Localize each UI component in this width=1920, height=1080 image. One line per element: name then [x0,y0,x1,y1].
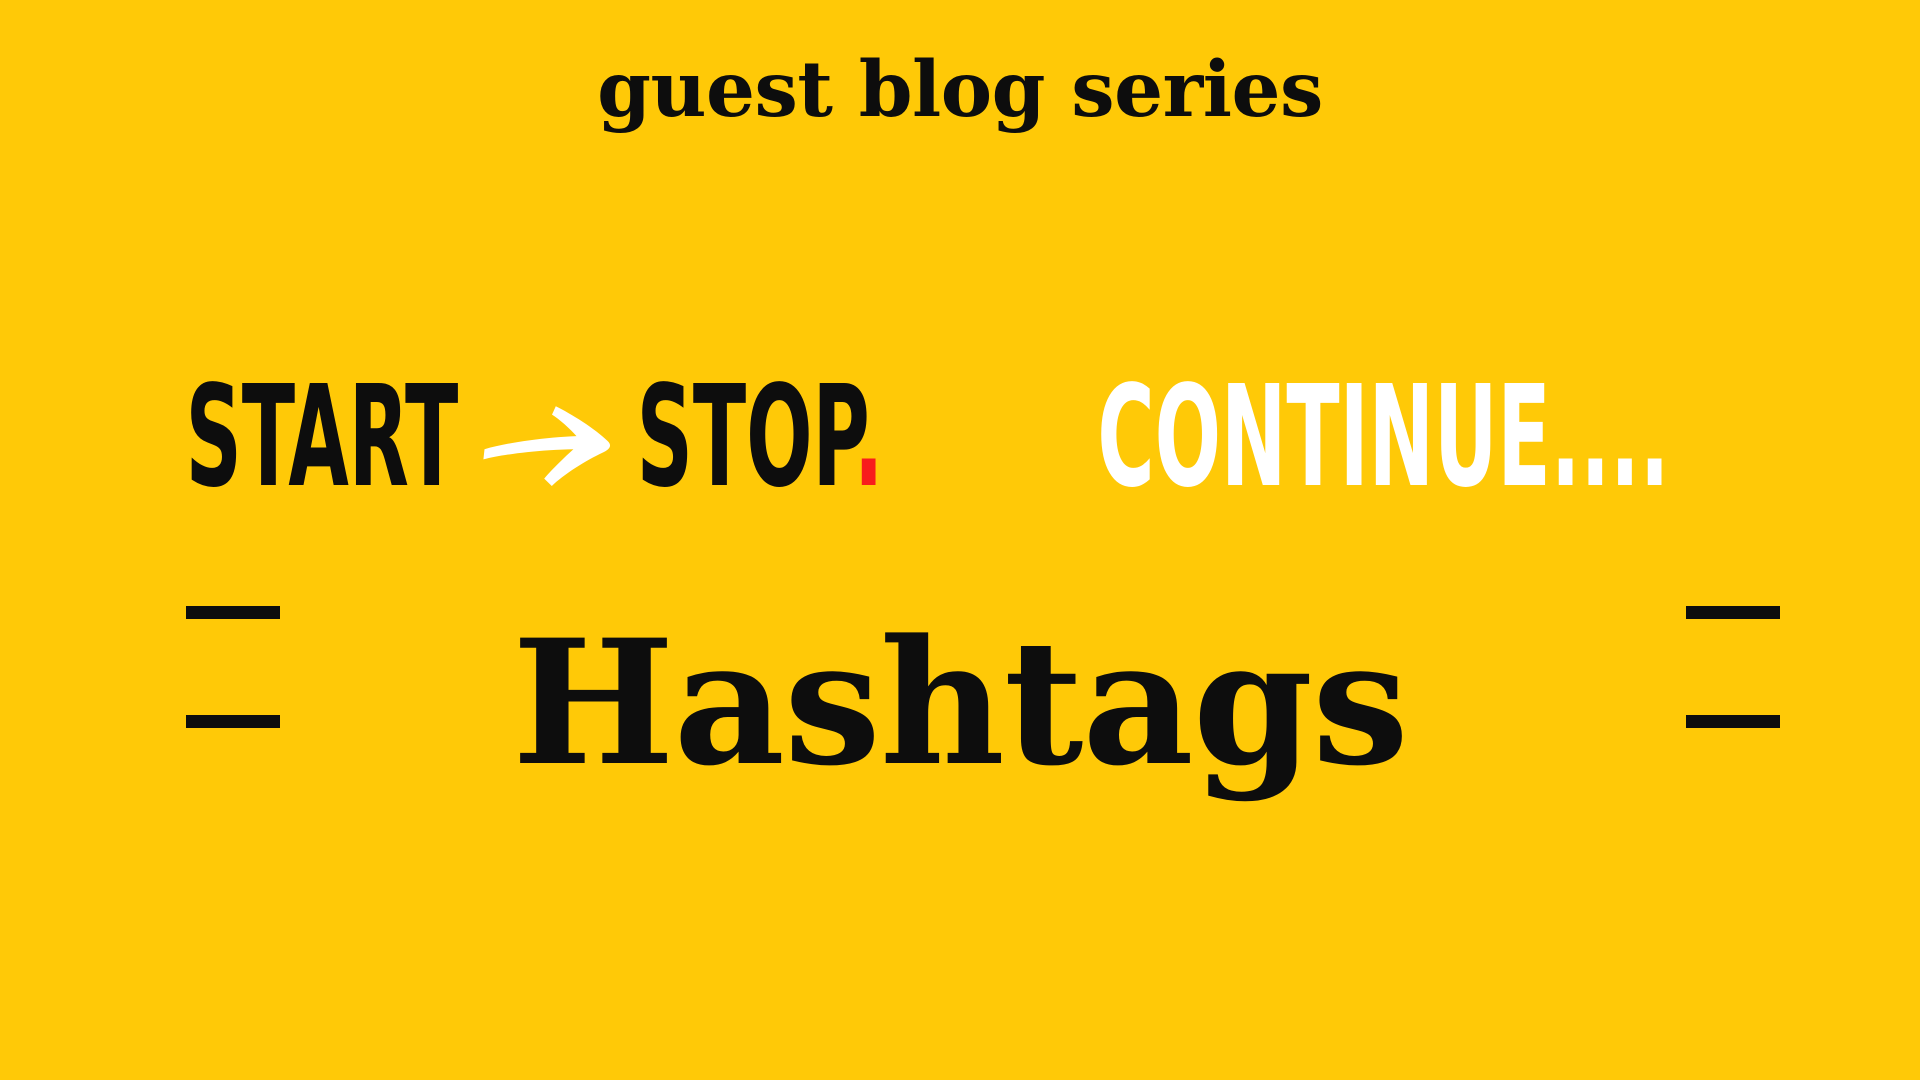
dash-lower [186,715,280,728]
dash-upper [1686,606,1780,619]
page-kicker-title: guest blog series [0,52,1920,129]
subject-heading: Hashtags [0,617,1920,789]
headline-row: START STOP. CONTINUE.... [0,368,1920,508]
headline-stop-period: . [854,356,884,519]
dash-lower [1686,715,1780,728]
hand-drawn-arrow-right-icon [481,394,613,490]
double-dash-icon-right [1686,606,1780,728]
headline-word-stop-text: STOP [637,356,854,519]
dash-upper [186,606,280,619]
headline-word-stop: STOP. [637,383,884,492]
headline-word-continue: CONTINUE.... [1097,383,1669,492]
headline-word-start: START [185,383,458,492]
double-dash-icon-left [186,606,280,728]
slide-canvas: guest blog series START STOP. CONTINUE..… [0,0,1920,1080]
